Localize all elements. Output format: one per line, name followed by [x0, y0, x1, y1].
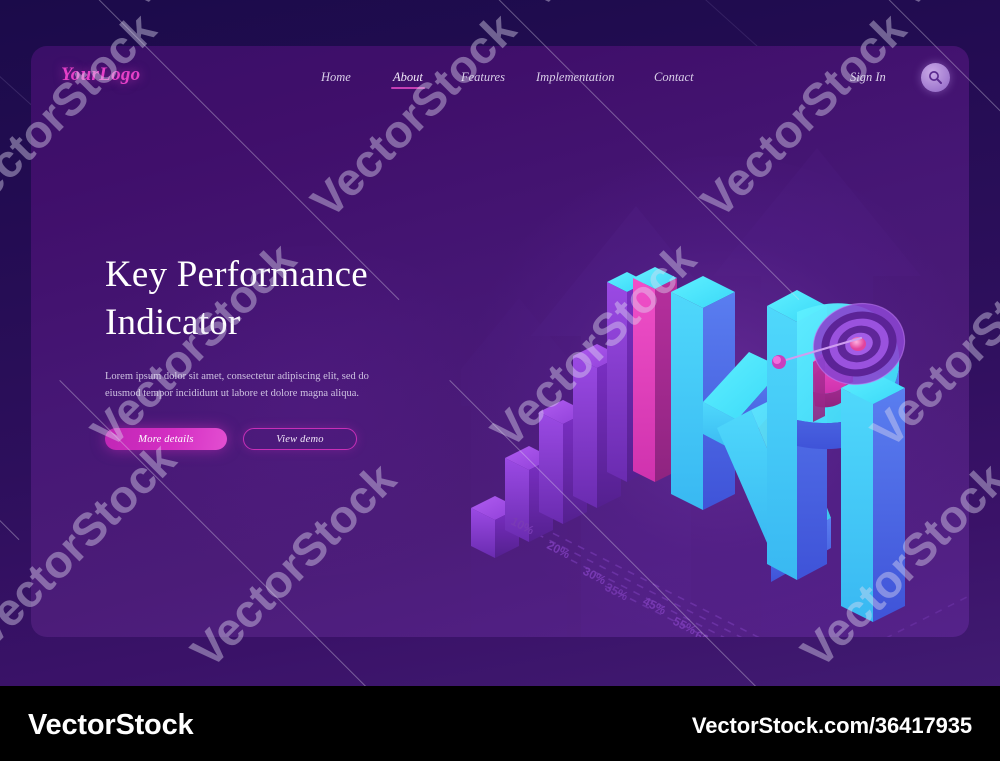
kpi-isometric-illustration: 10% 20% 30% 35% 45% 55% 60% 80% 90%	[431, 166, 969, 637]
more-details-button[interactable]: More details	[105, 428, 227, 450]
footer-brand: VectorStock	[28, 709, 193, 742]
kpi-artwork	[431, 166, 969, 637]
search-button[interactable]	[921, 63, 950, 92]
artboard: YourLogo Home About Features Implementat…	[0, 0, 1000, 686]
hero-section: Key Performance Indicator Lorem ipsum do…	[105, 251, 465, 450]
hero-paragraph: Lorem ipsum dolor sit amet, consectetur …	[105, 369, 377, 402]
screenshot-root: YourLogo Home About Features Implementat…	[0, 0, 1000, 761]
sign-in-link[interactable]: Sign In	[850, 70, 886, 85]
search-icon	[928, 70, 943, 85]
view-demo-button[interactable]: View demo	[243, 428, 357, 450]
bar-6-pink	[633, 267, 677, 482]
top-navigation: YourLogo Home About Features Implementat…	[31, 46, 969, 112]
nav-item-about[interactable]: About	[393, 70, 423, 85]
nav-item-contact[interactable]: Contact	[654, 70, 694, 85]
brand-logo[interactable]: YourLogo	[61, 64, 140, 86]
title-line-1: Key Performance	[105, 254, 368, 295]
title-line-2: Indicator	[105, 302, 240, 343]
page-title: Key Performance Indicator	[105, 251, 465, 347]
nav-item-features[interactable]: Features	[461, 70, 505, 85]
footer-url: VectorStock.com/36417935	[692, 713, 972, 739]
nav-item-implementation[interactable]: Implementation	[536, 70, 614, 85]
nav-active-underline	[391, 87, 425, 89]
landing-page-card: YourLogo Home About Features Implementat…	[31, 46, 969, 637]
nav-item-home[interactable]: Home	[321, 70, 351, 85]
letter-i-stem	[841, 372, 905, 622]
vectorstock-footer: VectorStock VectorStock.com/36417935	[0, 686, 1000, 761]
hero-button-row: More details View demo	[105, 428, 465, 450]
